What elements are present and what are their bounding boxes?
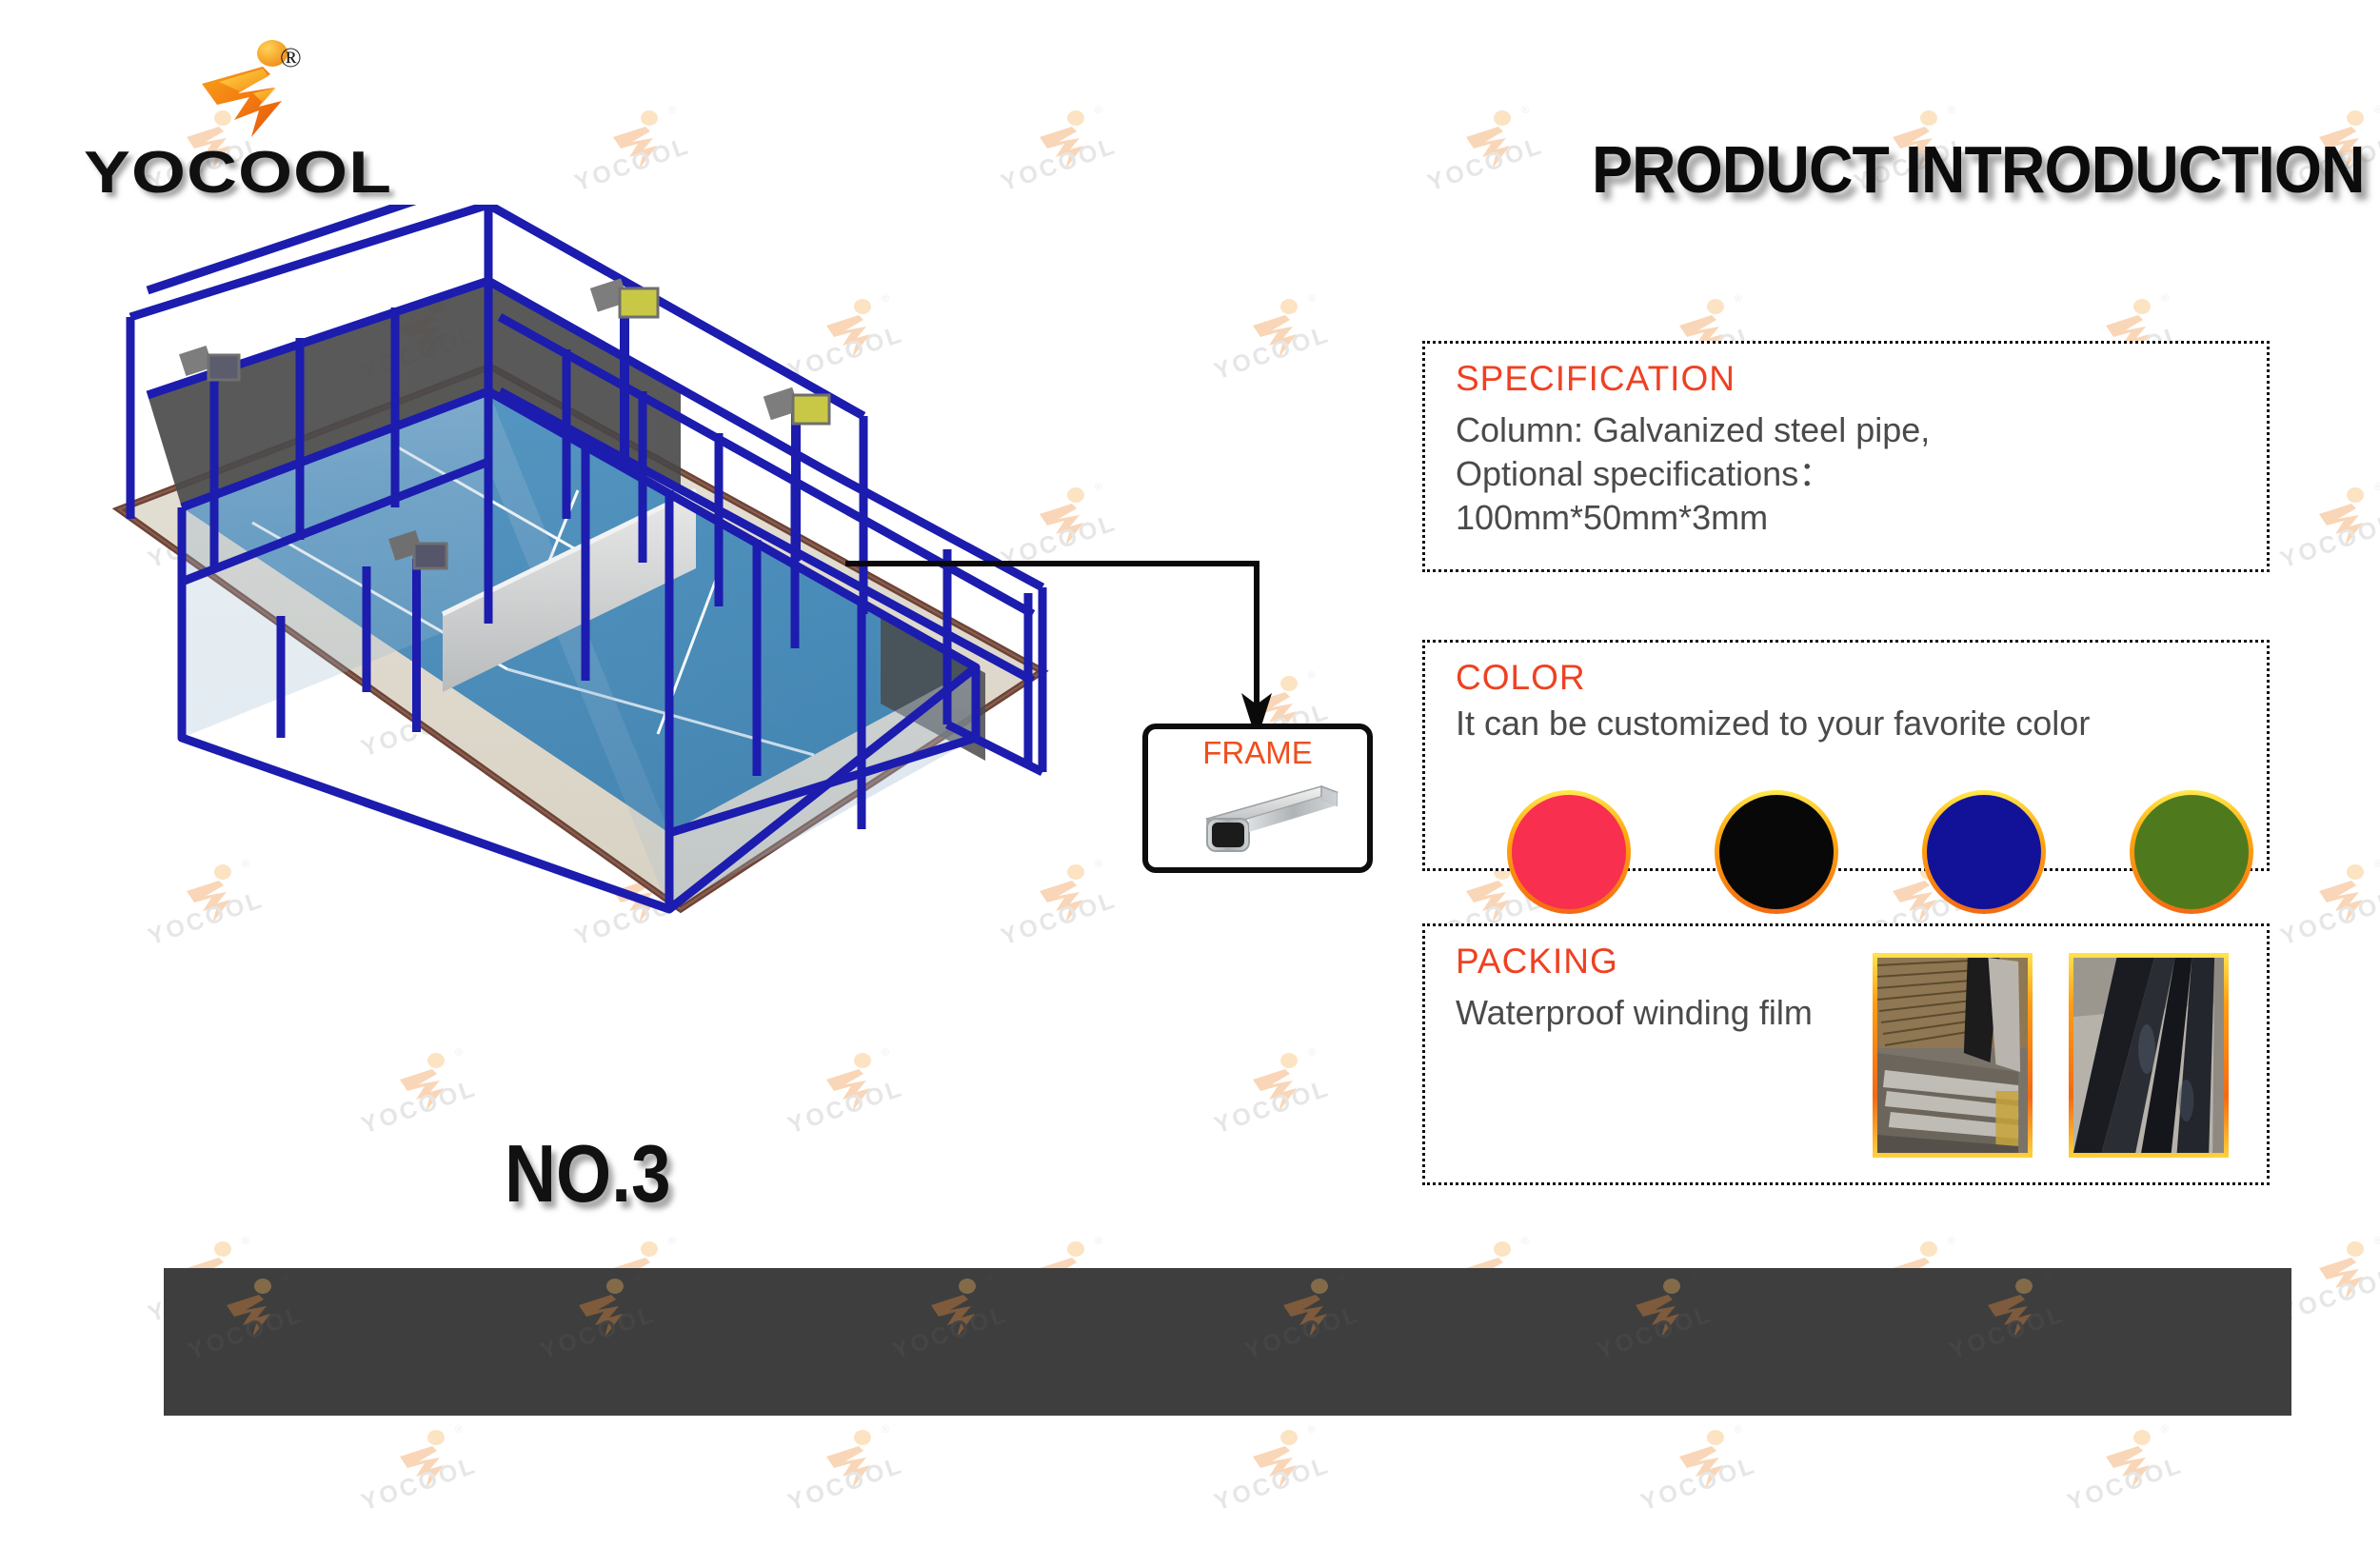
watermark-mark: ® (242, 1236, 249, 1247)
watermark-mark: ® (1095, 105, 1102, 116)
watermark-tile: ®YOCOOL (1592, 1273, 1754, 1416)
watermark-text: YOCOOL (1211, 307, 1373, 387)
specification-panel: SPECIFICATION Column: Galvanized steel p… (1422, 341, 2270, 572)
watermark-mark: ® (2374, 482, 2380, 493)
specification-title: SPECIFICATION (1456, 359, 1735, 399)
watermark-logo-icon (2317, 863, 2374, 931)
watermark-logo-icon (1038, 109, 1095, 177)
watermark-mark: ® (2374, 859, 2380, 870)
watermark-text: YOCOOL (784, 1438, 946, 1517)
square-steel-tube-icon (1179, 779, 1340, 857)
watermark-logo-icon (398, 1051, 455, 1120)
brand-logo: ® YOCOOL (93, 36, 379, 203)
packing-panel: PACKING Waterproof winding film (1422, 923, 2270, 1185)
watermark-tile: ®YOCOOL (2275, 859, 2380, 1002)
page-title: PRODUCT INTRODUCTION (1592, 131, 2365, 208)
watermark-tile: ®YOCOOL (887, 1273, 1049, 1416)
watermark-tile: ®YOCOOL (356, 1047, 518, 1190)
watermark-mark: ® (455, 1047, 463, 1059)
specification-body: Column: Galvanized steel pipe, Optional … (1456, 408, 1930, 540)
watermark-mark: ® (986, 1273, 994, 1284)
watermark-text: YOCOOL (2277, 496, 2380, 575)
watermark-tile: ®YOCOOL (535, 1273, 697, 1416)
watermark-mark: ® (1095, 1236, 1102, 1247)
watermark-mark: ® (1948, 1236, 1955, 1247)
packing-title: PACKING (1456, 942, 1618, 982)
watermark-logo-icon (1464, 109, 1521, 177)
watermark-mark: ® (455, 1424, 463, 1436)
watermark-text: YOCOOL (1211, 1438, 1373, 1517)
watermark-mark: ® (1308, 670, 1316, 682)
brand-name: YOCOOL (84, 139, 392, 207)
watermark-mark: ® (1521, 105, 1529, 116)
watermark-text: YOCOOL (784, 1061, 946, 1141)
watermark-text: YOCOOL (571, 119, 733, 198)
watermark-text: YOCOOL (1637, 1438, 1799, 1517)
watermark-logo-icon (1251, 1428, 1308, 1497)
watermark-logo-icon (1251, 297, 1308, 366)
watermark-logo-icon (2317, 486, 2374, 554)
watermark-tile: ®YOCOOL (2275, 482, 2380, 625)
watermark-mark: ® (1691, 1273, 1698, 1284)
frame-callout-label: FRAME (1148, 735, 1367, 771)
watermark-mark: ® (1308, 293, 1316, 305)
watermark-text: YOCOOL (1424, 119, 1586, 198)
color-swatch-black[interactable] (1715, 790, 1838, 914)
watermark-mark: ® (668, 1236, 676, 1247)
watermark-mark: ® (1735, 1424, 1742, 1436)
watermark-tile: ®YOCOOL (356, 1424, 518, 1567)
packing-body: Waterproof winding film (1456, 991, 1813, 1035)
watermark-tile: ®YOCOOL (1209, 1047, 1371, 1190)
watermark-mark: ® (668, 105, 676, 116)
watermark-mark: ® (282, 1273, 289, 1284)
watermark-tile: ®YOCOOL (183, 1273, 345, 1416)
footer-banner: ®YOCOOL®YOCOOL®YOCOOL®YOCOOL®YOCOOL®YOCO… (164, 1268, 2291, 1416)
watermark-tile: ®YOCOOL (783, 1047, 944, 1190)
watermark-tile: ®YOCOOL (1636, 1424, 1797, 1567)
watermark-mark: ® (634, 1273, 642, 1284)
watermark-tile: ®YOCOOL (1209, 1424, 1371, 1567)
watermark-text: YOCOOL (998, 119, 1160, 198)
watermark-mark: ® (1948, 105, 1955, 116)
watermark-logo-icon (824, 1051, 882, 1120)
watermark-logo-icon (398, 1428, 455, 1497)
watermark-text: YOCOOL (358, 1061, 520, 1141)
watermark-logo-icon (1251, 1051, 1308, 1120)
watermark-mark: ® (882, 1424, 889, 1436)
watermark-tile: ®YOCOOL (1944, 1273, 2106, 1416)
frame-callout-box: FRAME (1142, 724, 1373, 873)
watermark-mark: ® (2161, 293, 2169, 305)
watermark-text: YOCOOL (358, 1438, 520, 1517)
color-swatch-red[interactable] (1507, 790, 1631, 914)
watermark-mark: ® (882, 1047, 889, 1059)
watermark-tile: ®YOCOOL (1209, 293, 1371, 436)
watermark-mark: ® (1735, 293, 1742, 305)
watermark-mark: ® (1308, 1047, 1316, 1059)
watermark-mark: ® (1339, 1273, 1346, 1284)
watermark-tile: ®YOCOOL (783, 1424, 944, 1567)
watermark-logo-icon (2317, 1240, 2374, 1308)
registered-mark: ® (280, 42, 302, 74)
color-title: COLOR (1456, 658, 1586, 698)
wrapped-steel-columns-photo (1873, 953, 2033, 1158)
watermark-text: YOCOOL (2277, 1250, 2380, 1329)
watermark-mark: ® (1308, 1424, 1316, 1436)
product-number: NO.3 (505, 1128, 671, 1221)
watermark-logo-icon (824, 1428, 882, 1497)
color-panel: COLOR It can be customized to your favor… (1422, 640, 2270, 871)
watermark-tile: ®YOCOOL (2062, 1424, 2224, 1567)
watermark-logo-icon (1677, 1428, 1735, 1497)
watermark-logo-icon (2104, 1428, 2161, 1497)
watermark-tile: ®YOCOOL (1422, 105, 1584, 248)
watermark-mark: ® (2374, 1236, 2380, 1247)
color-swatch-green[interactable] (2130, 790, 2253, 914)
color-swatch-blue[interactable] (1922, 790, 2046, 914)
watermark-mark: ® (2043, 1273, 2051, 1284)
black-frame-profiles-photo (2069, 953, 2229, 1158)
watermark-logo-icon (611, 109, 668, 177)
watermark-tile: ®YOCOOL (1240, 1273, 1401, 1416)
watermark-text: YOCOOL (2277, 873, 2380, 952)
color-body: It can be customized to your favorite co… (1456, 702, 2090, 745)
watermark-text: YOCOOL (1211, 1061, 1373, 1141)
watermark-mark: ® (1521, 1236, 1529, 1247)
watermark-mark: ® (2374, 105, 2380, 116)
watermark-mark: ® (2161, 1424, 2169, 1436)
watermark-text: YOCOOL (2064, 1438, 2226, 1517)
